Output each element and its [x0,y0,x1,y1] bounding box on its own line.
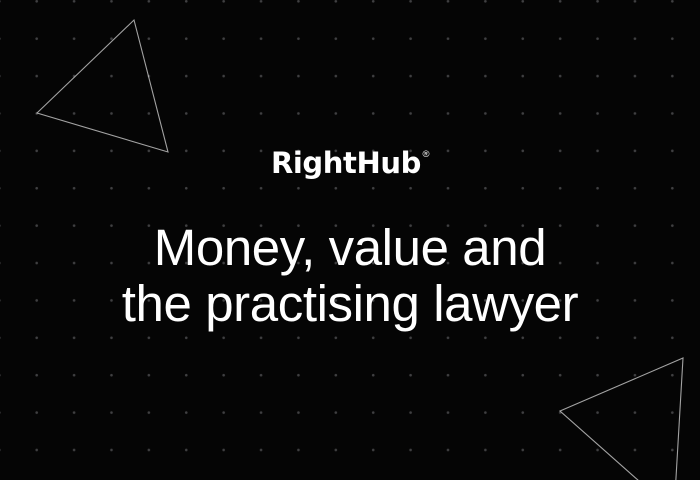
page-title: Money, value and the practising lawyer [122,220,578,332]
brand-logo: RightHub® [271,149,429,178]
slide-content: RightHub® Money, value and the practisin… [0,0,700,480]
brand-logo-text: RightHub [271,149,421,178]
registered-trademark-icon: ® [422,150,429,160]
page-title-line-2: the practising lawyer [122,276,578,332]
page-title-line-1: Money, value and [122,220,578,276]
title-slide: RightHub® Money, value and the practisin… [0,0,700,480]
